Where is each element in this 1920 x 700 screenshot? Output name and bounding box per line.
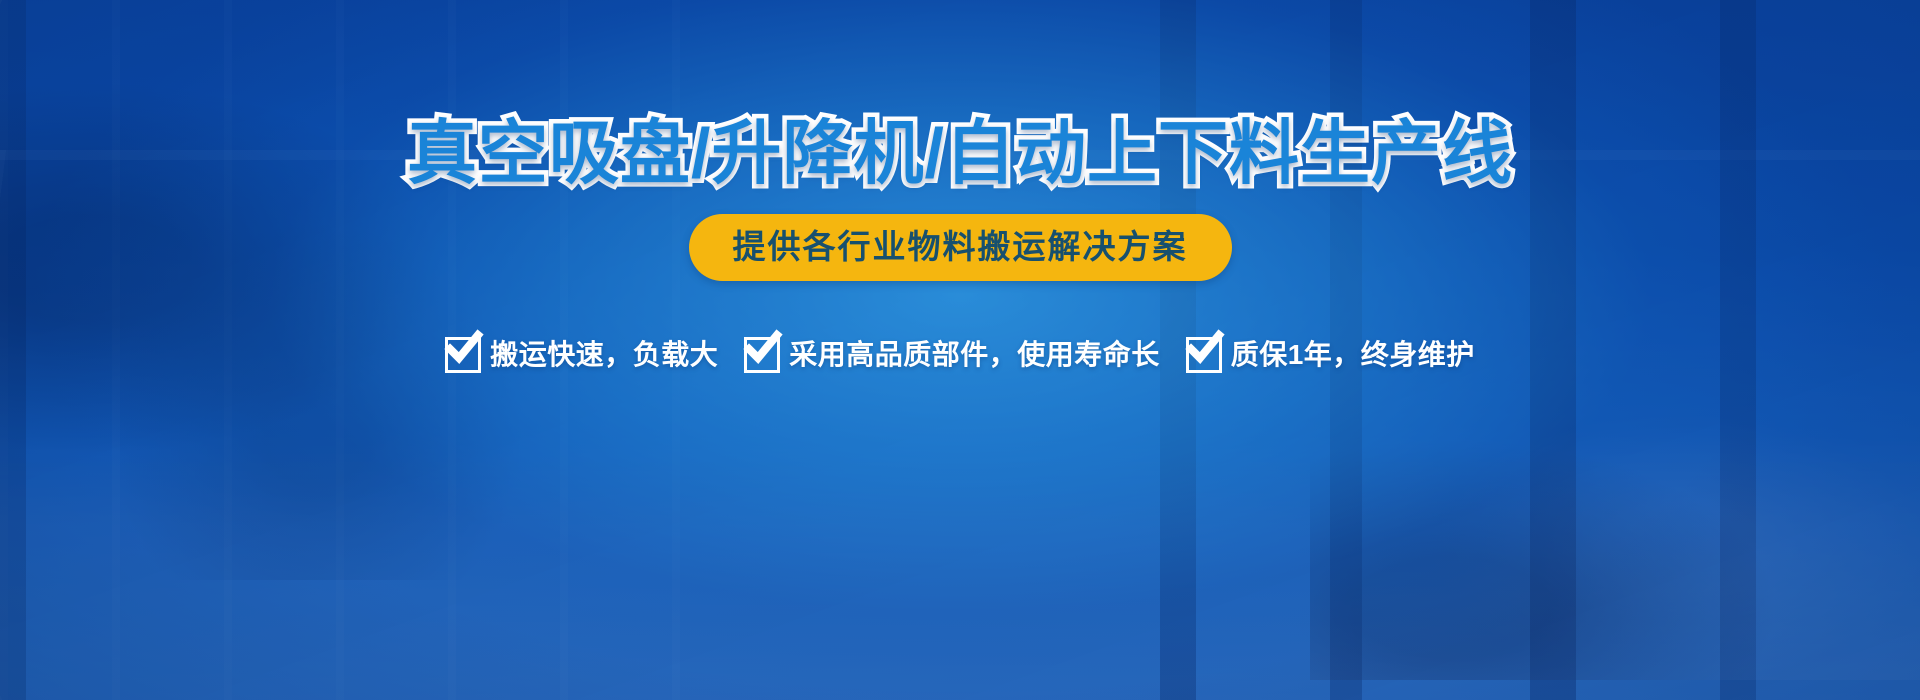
feature-item: 质保1年，终身维护 — [1186, 337, 1475, 373]
feature-item: 搬运快速，负载大 — [445, 337, 718, 373]
checkbox-check-icon — [744, 337, 780, 373]
banner-content: 真空吸盘/升降机/自动上下料生产线 提供各行业物料搬运解决方案 搬运快速，负载大… — [0, 0, 1920, 700]
promotional-banner: 真空吸盘/升降机/自动上下料生产线 提供各行业物料搬运解决方案 搬运快速，负载大… — [0, 0, 1920, 700]
feature-label: 质保1年，终身维护 — [1231, 341, 1475, 369]
feature-item: 采用高品质部件，使用寿命长 — [744, 337, 1160, 373]
feature-label: 采用高品质部件，使用寿命长 — [789, 341, 1160, 369]
checkbox-check-icon — [445, 337, 481, 373]
banner-subtitle-badge: 提供各行业物料搬运解决方案 — [689, 214, 1232, 281]
banner-headline: 真空吸盘/升降机/自动上下料生产线 — [407, 118, 1513, 188]
feature-label: 搬运快速，负载大 — [490, 341, 718, 369]
banner-feature-list: 搬运快速，负载大 采用高品质部件，使用寿命长 质保1年，终身维护 — [445, 337, 1475, 373]
checkbox-check-icon — [1186, 337, 1222, 373]
